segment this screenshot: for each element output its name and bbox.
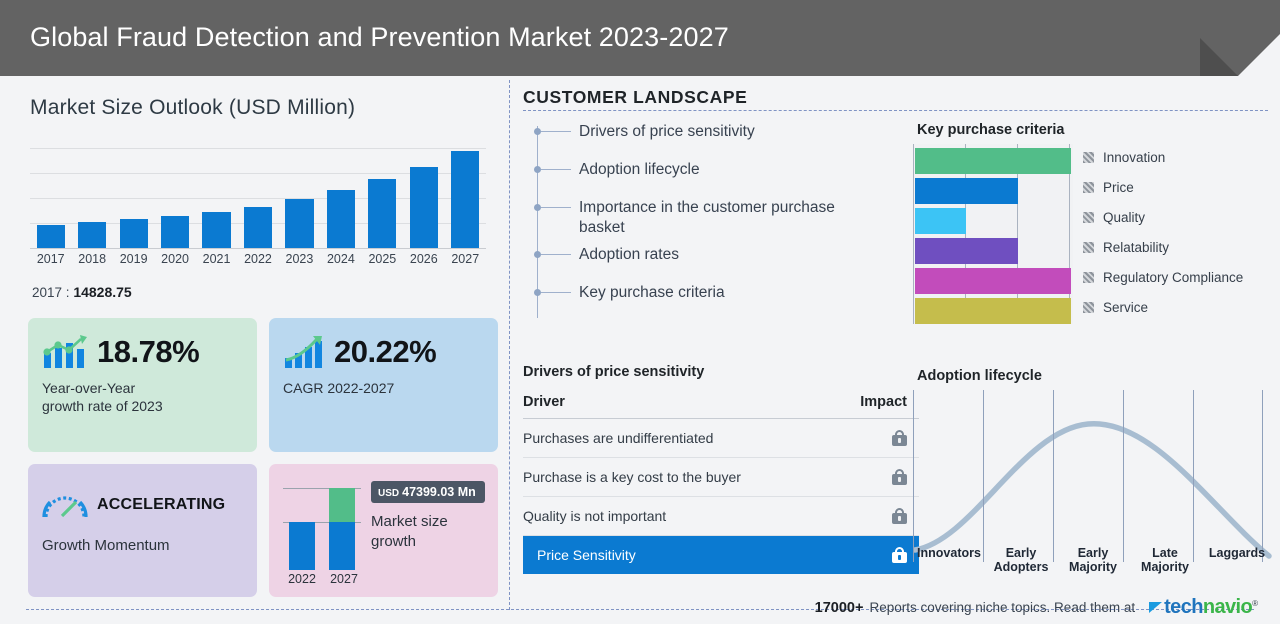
kpc-title: Key purchase criteria bbox=[917, 122, 1065, 138]
driver-name: Purchases are undifferentiated bbox=[523, 430, 721, 446]
bar-2026 bbox=[410, 167, 438, 248]
market-size-panel: Market Size Outlook (USD Million) 201720… bbox=[0, 76, 509, 624]
tree-item[interactable]: Key purchase criteria bbox=[537, 283, 897, 303]
bar-column bbox=[237, 148, 278, 248]
adoption-lifecycle-chart: Adoption lifecycle InnovatorsEarlyAdopte… bbox=[905, 364, 1280, 594]
bar-2025 bbox=[368, 179, 396, 248]
driver-row[interactable]: Quality is not important bbox=[523, 497, 919, 536]
gridline bbox=[983, 390, 984, 562]
hatch-swatch-icon bbox=[1083, 302, 1094, 313]
brand-name-second: navio bbox=[1203, 596, 1252, 619]
customer-landscape-title: CUSTOMER LANDSCAPE bbox=[523, 87, 747, 108]
momentum-topline: ACCELERATING bbox=[28, 464, 257, 520]
growth-caption: Market size growth bbox=[371, 512, 448, 551]
gridline bbox=[1193, 390, 1194, 562]
bar-column bbox=[113, 148, 154, 248]
adoption-title: Adoption lifecycle bbox=[917, 368, 1042, 384]
tree-connector bbox=[541, 207, 571, 208]
driver-name: Purchase is a key cost to the buyer bbox=[523, 469, 749, 485]
tree-bullet-icon bbox=[534, 128, 541, 135]
gridline bbox=[1053, 390, 1054, 562]
kpc-bar-quality bbox=[915, 208, 966, 234]
bar-2019 bbox=[120, 219, 148, 248]
report-count: 17000+ bbox=[815, 600, 864, 616]
corner-fold-icon bbox=[1238, 34, 1280, 76]
kpc-legend-item[interactable]: Innovation bbox=[1083, 142, 1243, 172]
bar-column bbox=[445, 148, 486, 248]
x-label-2024: 2024 bbox=[320, 252, 361, 266]
callout-year: 2017 : bbox=[32, 285, 70, 300]
adoption-stage-late-majority: LateMajority bbox=[1129, 546, 1201, 574]
tree-bullet-icon bbox=[534, 289, 541, 296]
bar-2024 bbox=[327, 190, 355, 248]
x-label-2026: 2026 bbox=[403, 252, 444, 266]
bar-2021 bbox=[202, 212, 230, 248]
x-label-2019: 2019 bbox=[113, 252, 154, 266]
bar-column bbox=[71, 148, 112, 248]
x-label-2017: 2017 bbox=[30, 252, 71, 266]
x-label-2025: 2025 bbox=[362, 252, 403, 266]
hatch-swatch-icon bbox=[1083, 212, 1094, 223]
bar-column bbox=[154, 148, 195, 248]
tree-connector bbox=[541, 292, 571, 293]
market-size-title: Market Size Outlook (USD Million) bbox=[30, 96, 355, 120]
kpc-legend-item[interactable]: Service bbox=[1083, 292, 1243, 322]
stat-cards: 18.78% Year-over-Year growth rate of 202… bbox=[28, 318, 498, 609]
growth-momentum-card[interactable]: ACCELERATING Growth Momentum bbox=[28, 464, 257, 597]
tree-item-label: Importance in the customer purchase bask… bbox=[571, 198, 836, 238]
trademark-icon: ® bbox=[1252, 599, 1258, 608]
footer-content: 17000+ Reports covering niche topics. Re… bbox=[815, 596, 1258, 619]
x-label-2022: 2022 bbox=[237, 252, 278, 266]
momentum-sublabel: Growth Momentum bbox=[28, 520, 257, 555]
kpc-legend-label: Price bbox=[1094, 180, 1134, 195]
infographic-page: Global Fraud Detection and Prevention Ma… bbox=[0, 0, 1280, 624]
tree-item[interactable]: Adoption rates bbox=[537, 245, 897, 265]
tree-item-label: Drivers of price sensitivity bbox=[571, 122, 755, 142]
section-underline bbox=[523, 110, 1268, 111]
yoy-growth-card[interactable]: 18.78% Year-over-Year growth rate of 202… bbox=[28, 318, 257, 452]
momentum-label: ACCELERATING bbox=[97, 496, 225, 514]
bar-2017 bbox=[37, 225, 65, 248]
tree-bullet-icon bbox=[534, 204, 541, 211]
stat-card-row-1: 18.78% Year-over-Year growth rate of 202… bbox=[28, 318, 498, 452]
adoption-stage-early-adopters: EarlyAdopters bbox=[985, 546, 1057, 574]
market-size-bar-chart bbox=[30, 148, 486, 248]
customer-landscape-panel: CUSTOMER LANDSCAPE Drivers of price sens… bbox=[509, 76, 1280, 624]
adoption-stage-innovators: Innovators bbox=[913, 546, 985, 574]
bar-2023 bbox=[285, 199, 313, 248]
kpc-legend-item[interactable]: Quality bbox=[1083, 202, 1243, 232]
callout-value: 14828.75 bbox=[73, 284, 131, 300]
x-axis-labels: 2017201820192020202120222023202420252026… bbox=[30, 252, 486, 266]
tree-item[interactable]: Importance in the customer purchase bask… bbox=[537, 198, 897, 238]
tree-connector bbox=[541, 254, 571, 255]
yoy-value: 18.78% bbox=[97, 334, 199, 370]
cagr-card[interactable]: 20.22% CAGR 2022-2027 bbox=[269, 318, 498, 452]
column-header-impact: Impact bbox=[860, 394, 907, 410]
x-axis-line bbox=[30, 248, 486, 249]
growth-bar-2027-increment bbox=[329, 488, 355, 522]
growth-year-2022: 2022 bbox=[281, 572, 323, 586]
adoption-plot-area bbox=[913, 390, 1273, 562]
adoption-stage-laggards: Laggards bbox=[1201, 546, 1273, 574]
driver-row[interactable]: Purchase is a key cost to the buyer bbox=[523, 458, 919, 497]
growth-value-badge: USD47399.03 Mn bbox=[371, 481, 485, 503]
column-header-driver: Driver bbox=[523, 394, 565, 410]
first-year-callout: 2017 : 14828.75 bbox=[32, 284, 132, 300]
market-size-growth-card[interactable]: 2022 2027 USD47399.03 Mn Market size gro… bbox=[269, 464, 498, 597]
bar-chart-arrow-icon bbox=[283, 334, 325, 370]
kpc-bar-innovation bbox=[915, 148, 1071, 174]
gridline bbox=[913, 144, 914, 324]
kpc-legend-label: Relatability bbox=[1094, 240, 1169, 255]
gridline bbox=[1123, 390, 1124, 562]
brand-name-first: tech bbox=[1164, 596, 1203, 619]
growth-year-labels: 2022 2027 bbox=[281, 572, 365, 586]
kpc-bar-relatability bbox=[915, 238, 1018, 264]
bar-2018 bbox=[78, 222, 106, 248]
cagr-topline: 20.22% bbox=[269, 318, 498, 370]
page-footer: 17000+ Reports covering niche topics. Re… bbox=[0, 592, 1280, 624]
speedometer-icon bbox=[42, 490, 88, 520]
stat-card-row-2: ACCELERATING Growth Momentum bbox=[28, 464, 498, 597]
cagr-value: 20.22% bbox=[334, 334, 436, 370]
bar-chart-growth-icon bbox=[42, 334, 88, 370]
footer-text: Reports covering niche topics. Read them… bbox=[863, 600, 1135, 615]
driver-name: Quality is not important bbox=[523, 508, 674, 524]
kpc-plot-area bbox=[913, 144, 1073, 324]
growth-bar-2027-base bbox=[329, 522, 355, 570]
kpc-bar-regulatory-compliance bbox=[915, 268, 1071, 294]
hatch-swatch-icon bbox=[1083, 242, 1094, 253]
growth-year-2027: 2027 bbox=[323, 572, 365, 586]
kpc-legend-item[interactable]: Relatability bbox=[1083, 232, 1243, 262]
x-label-2021: 2021 bbox=[196, 252, 237, 266]
currency-unit: USD bbox=[378, 488, 399, 499]
bar-2022 bbox=[244, 207, 272, 248]
tree-item[interactable]: Adoption lifecycle bbox=[537, 160, 897, 180]
tree-item[interactable]: Drivers of price sensitivity bbox=[537, 122, 897, 142]
bar-column bbox=[362, 148, 403, 248]
yoy-topline: 18.78% bbox=[28, 318, 257, 370]
cagr-sublabel: CAGR 2022-2027 bbox=[269, 370, 498, 398]
kpc-bar-service bbox=[915, 298, 1071, 324]
x-label-2027: 2027 bbox=[445, 252, 486, 266]
kpc-legend-item[interactable]: Price bbox=[1083, 172, 1243, 202]
bar-series bbox=[30, 148, 486, 248]
driver-row-highlighted[interactable]: Price Sensitivity bbox=[523, 536, 919, 574]
kpc-bar-price bbox=[915, 178, 1018, 204]
growth-bar-2022 bbox=[289, 522, 315, 570]
drivers-table-header: Driver Impact bbox=[523, 394, 919, 419]
technavio-logo[interactable]: tech navio ® bbox=[1135, 596, 1258, 619]
kpc-legend-label: Service bbox=[1094, 300, 1148, 315]
tree-connector bbox=[541, 169, 571, 170]
driver-row[interactable]: Purchases are undifferentiated bbox=[523, 419, 919, 458]
drivers-title: Drivers of price sensitivity bbox=[523, 364, 919, 380]
customer-landscape-tree: Drivers of price sensitivityAdoption lif… bbox=[537, 118, 917, 318]
page-header: Global Fraud Detection and Prevention Ma… bbox=[0, 0, 1280, 76]
x-label-2023: 2023 bbox=[279, 252, 320, 266]
kpc-legend-label: Innovation bbox=[1094, 150, 1165, 165]
bar-column bbox=[279, 148, 320, 248]
kpc-legend-label: Regulatory Compliance bbox=[1094, 270, 1243, 285]
tree-connector bbox=[541, 131, 571, 132]
hatch-swatch-icon bbox=[1083, 182, 1094, 193]
growth-value: 47399.03 Mn bbox=[402, 485, 476, 499]
bar-2020 bbox=[161, 216, 189, 248]
gridline bbox=[913, 390, 914, 562]
kpc-legend: InnovationPriceQualityRelatabilityRegula… bbox=[1083, 142, 1243, 322]
drivers-table: Drivers of price sensitivity Driver Impa… bbox=[523, 364, 919, 574]
hatch-swatch-icon bbox=[1083, 152, 1094, 163]
bar-column bbox=[196, 148, 237, 248]
key-purchase-criteria-chart: Key purchase criteria InnovationPriceQua… bbox=[905, 118, 1280, 348]
bar-column bbox=[30, 148, 71, 248]
driver-name: Price Sensitivity bbox=[537, 547, 644, 563]
hatch-swatch-icon bbox=[1083, 272, 1094, 283]
growth-mini-chart bbox=[283, 482, 361, 570]
bar-2027 bbox=[451, 151, 479, 248]
yoy-sublabel: Year-over-Year growth rate of 2023 bbox=[28, 370, 257, 416]
kpc-legend-label: Quality bbox=[1094, 210, 1145, 225]
x-label-2018: 2018 bbox=[71, 252, 112, 266]
bar-column bbox=[320, 148, 361, 248]
tree-item-label: Adoption lifecycle bbox=[571, 160, 700, 180]
tree-bullet-icon bbox=[534, 166, 541, 173]
technavio-mark-icon bbox=[1149, 602, 1162, 613]
tree-item-label: Key purchase criteria bbox=[571, 283, 725, 303]
tree-item-label: Adoption rates bbox=[571, 245, 679, 265]
x-label-2020: 2020 bbox=[154, 252, 195, 266]
adoption-curve bbox=[913, 390, 1273, 562]
gridline bbox=[1262, 390, 1263, 562]
drivers-table-body: Purchases are undifferentiatedPurchase i… bbox=[523, 419, 919, 574]
kpc-legend-item[interactable]: Regulatory Compliance bbox=[1083, 262, 1243, 292]
growth-card-body: 2022 2027 USD47399.03 Mn Market size gro… bbox=[269, 464, 498, 597]
corner-fold-shadow bbox=[1200, 38, 1238, 76]
tree-bullet-icon bbox=[534, 251, 541, 258]
bar-column bbox=[403, 148, 444, 248]
page-title: Global Fraud Detection and Prevention Ma… bbox=[30, 22, 729, 53]
adoption-stage-labels: InnovatorsEarlyAdoptersEarlyMajorityLate… bbox=[913, 546, 1273, 574]
adoption-stage-early-majority: EarlyMajority bbox=[1057, 546, 1129, 574]
